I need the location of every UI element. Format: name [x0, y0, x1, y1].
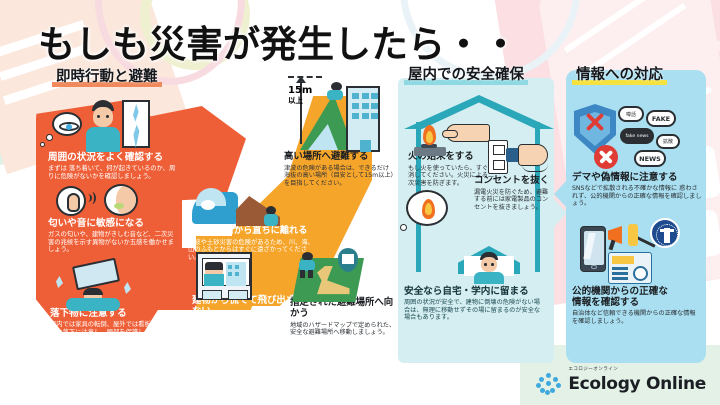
page-title: もしも災害が発生したら・・ — [38, 14, 519, 68]
item-title: 匂いや音に敏感になる — [48, 218, 178, 229]
item-body: ガスの匂いや、建物がきしむ音など、二次災害の兆候を示す異物がないか五感を働かせま… — [48, 231, 178, 254]
sound-wave-icon — [84, 192, 96, 206]
item-body: 揺れが収まっていない状況で外に出ると危険です。まずは安全な場所で待機しましょう。 — [192, 320, 300, 343]
speech-bubble-icon: NEWS — [634, 150, 666, 167]
height-callout: 15m 以上 — [288, 86, 312, 104]
speech-bubble-icon: 拡散 — [656, 134, 680, 149]
item-beware-fake: デマや偽情報に注意する SNSなどで拡散される不確かな情報に 惑わされず、公的機… — [572, 172, 702, 208]
speech-bubble-dark-icon: fake news — [620, 128, 654, 144]
item-unplug: コンセントを抜く 漏電火災を防ぐため、避難する前には家電製品のコンセントを抜きま… — [474, 176, 554, 212]
ear-icon — [56, 186, 86, 216]
building-icon — [346, 86, 380, 152]
item-body: 周囲の状況が安全で、建物に倒壊の危険がない場合は、無理に移動せずその場に留まるの… — [404, 299, 546, 322]
logo-dots-icon — [536, 373, 562, 395]
item-body: 津波の危険がある場合は、できるだけ海抜の高い場所（目安として15m以上）を目指し… — [284, 165, 394, 188]
bubble-text: fake news — [625, 134, 648, 139]
item-title-line1: 公的機関からの正確な — [572, 286, 700, 297]
building-window-icon — [196, 252, 252, 300]
climbing-person-icon — [326, 82, 346, 104]
item-stay-if-safe: 安全なら自宅・学内に留まる 周囲の状況が安全で、建物に倒壊の危険がない場合は、無… — [404, 286, 546, 322]
item-body: 漏電火災を防ぐため、避難する前には家電製品のコンセントを抜きましょう。 — [474, 189, 554, 212]
item-go-to-shelter: 指定された避難場所へ向かう 地域のハザードマップで定められた、安全な避難場所へ移… — [290, 298, 398, 337]
bubble-text: 拡散 — [663, 138, 673, 145]
callout-unit: 以上 — [288, 97, 312, 105]
thought-dot-icon — [400, 224, 407, 231]
nose-icon — [104, 184, 138, 216]
person-escaping-icon — [262, 206, 280, 226]
person-icon — [86, 100, 120, 152]
bubble-text: 噂話 — [626, 111, 636, 118]
bubble-text: FAKE — [652, 115, 670, 123]
hand-icon — [442, 118, 490, 154]
item-title: 高い場所へ避難する — [284, 152, 394, 163]
section-label: 情報への対応 — [576, 67, 663, 83]
item-smell-sound: 匂いや音に敏感になる ガスの匂いや、建物がきしむ音など、二次災害の兆候を示す異物… — [48, 218, 178, 254]
radio-icon — [608, 252, 652, 284]
government-seal-icon — [650, 218, 680, 248]
logo-name: Ecology Online — [568, 374, 706, 394]
item-dont-rush-out: 建物から慌てて飛び出さない 揺れが収まっていない状況で外に出ると危険です。まずは… — [192, 296, 300, 342]
person-crouch-icon — [62, 286, 124, 312]
thought-dot-icon — [46, 134, 53, 141]
item-body: 地域のハザードマップで定められた、安全な避難場所へ移動しましょう。 — [290, 322, 398, 337]
thought-dot-icon — [40, 142, 45, 147]
poster-canvas: もしも災害が発生したら・・ 即時行動と避難 屋内での安全確保 情報への対応 — [0, 0, 720, 405]
item-body: SNSなどで拡散される不確かな情報に 惑わされず、公的機関からの正確な情報を確認… — [572, 185, 702, 208]
megaphone-icon — [608, 222, 646, 248]
item-body: 屋内では家具の転倒、屋外では看板やガラスの落下に注意し、頭部を保護しましょう。 — [50, 321, 174, 344]
speech-bubble-icon: FAKE — [646, 110, 676, 127]
smartphone-icon — [580, 226, 606, 272]
brand-logo: エコロジーオンライン Ecology Online — [536, 366, 706, 395]
logo-kana: エコロジーオンライン — [568, 366, 706, 372]
item-title: 安全なら自宅・学内に留まる — [404, 286, 546, 297]
person-relieved-icon — [472, 252, 506, 282]
item-check-surroundings: 周囲の状況をよく確認する まずは 落ち着いて、何が起きているのか、周りに危険がな… — [48, 152, 180, 180]
speech-bubble-icon: 噂話 — [618, 106, 644, 122]
item-title: 危険な場所から直ちに離れる — [188, 226, 314, 237]
fire-thought-bubble-icon — [406, 190, 448, 226]
item-title: 周囲の状況をよく確認する — [48, 152, 180, 163]
item-title-line2: 情報を確認する — [572, 297, 700, 308]
item-title: デマや偽情報に注意する — [572, 172, 702, 183]
item-official-info: 公的機関からの正確な 情報を確認する 自治体など信頼できる機関からの正確な情報を… — [572, 286, 700, 325]
section-label: 即時行動と避難 — [56, 69, 158, 85]
bubble-text: NEWS — [639, 155, 661, 163]
hand-plug-icon — [506, 142, 550, 174]
gas-stove-flame-icon — [412, 122, 446, 156]
section-header-info: 情報への対応 — [572, 62, 667, 85]
item-body: 自治体など信頼できる機関からの正確な情報を確認しましょう。 — [572, 310, 700, 325]
callout-value: 15m — [288, 86, 312, 97]
item-falling-objects: 落下物に注意する 屋内では家具の転倒、屋外では看板やガラスの落下に注意し、頭部を… — [50, 308, 174, 344]
item-title: コンセントを抜く — [474, 176, 554, 187]
cross-badge-icon — [594, 145, 618, 169]
outlet-icon — [488, 140, 508, 174]
item-high-ground: 高い場所へ避難する 津波の危険がある場合は、できるだけ海抜の高い場所（目安として… — [284, 152, 394, 188]
tsunami-wave-icon — [192, 186, 238, 226]
eye-icon — [52, 112, 82, 136]
height-dashed-line — [288, 76, 322, 78]
item-body: まずは 落ち着いて、何が起きているのか、周りに危険がないかを確認しましょう。 — [48, 165, 180, 180]
section-label: 屋内での安全確保 — [408, 67, 524, 83]
walking-person-icon — [296, 252, 318, 278]
cracked-wall-icon — [122, 100, 150, 148]
